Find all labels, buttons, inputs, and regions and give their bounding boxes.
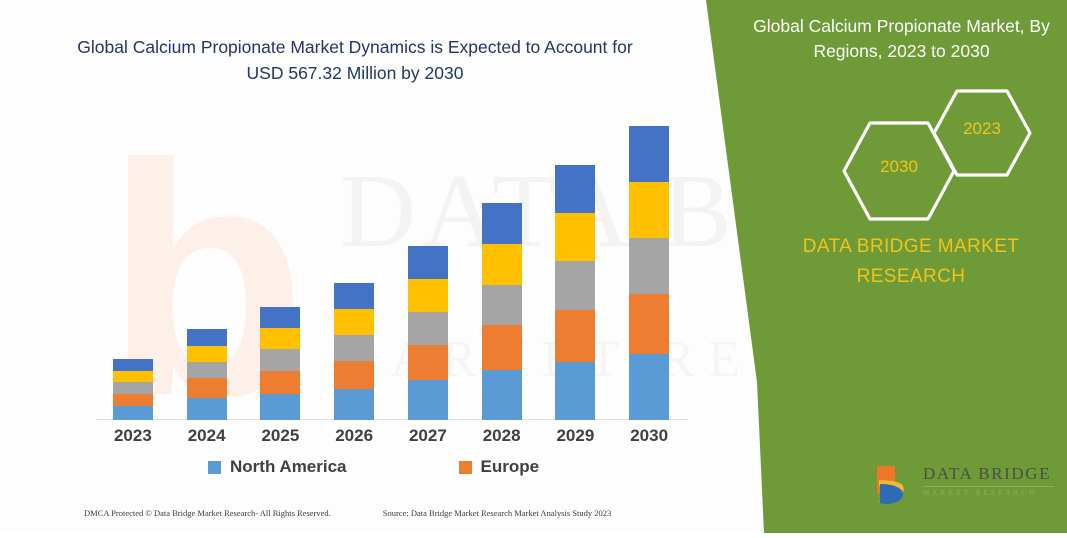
chart-legend: North AmericaEurope — [96, 455, 686, 479]
panel-title: Global Calcium Propionate Market, By Reg… — [746, 14, 1057, 64]
bar-segment-asia-pacific — [187, 362, 227, 378]
x-label-2029: 2029 — [539, 426, 613, 450]
legend-label: North America — [230, 457, 347, 477]
bar-segment-middle-east-and-africa — [260, 307, 300, 328]
legend-item-north-america[interactable]: North America — [208, 457, 347, 477]
data-bridge-logo: DATA BRIDGE MARKET RESEARCH — [871, 458, 1061, 510]
page-title: Global Calcium Propionate Market Dynamic… — [60, 34, 650, 86]
hexagon-group: 2030 2023 — [811, 88, 1051, 198]
bar-segment-europe — [629, 294, 669, 354]
bar-column-2028 — [465, 100, 539, 420]
hex-2023-label: 2023 — [931, 119, 1033, 139]
bar-segment-europe — [260, 371, 300, 394]
bar-segment-south-america — [260, 328, 300, 349]
bar-segment-asia-pacific — [334, 335, 374, 361]
bar-segment-middle-east-and-africa — [408, 246, 448, 279]
bar-segment-north-america — [260, 394, 300, 420]
bar-segment-europe — [555, 310, 595, 362]
bar-segment-europe — [482, 325, 522, 369]
bar-column-2029 — [539, 100, 613, 420]
bar-segment-north-america — [334, 389, 374, 420]
bar-column-2024 — [170, 100, 244, 420]
bar-segment-south-america — [334, 309, 374, 335]
bar-segment-asia-pacific — [555, 261, 595, 309]
bar-segment-europe — [187, 378, 227, 397]
stacked-bar — [629, 126, 669, 420]
footer-copyright: DMCA Protected © Data Bridge Market Rese… — [84, 508, 331, 524]
stacked-bar — [482, 203, 522, 420]
stacked-bar — [408, 246, 448, 420]
bar-segment-europe — [334, 361, 374, 389]
bar-segment-asia-pacific — [482, 285, 522, 326]
bar-segment-middle-east-and-africa — [629, 126, 669, 182]
bar-segment-europe — [408, 345, 448, 381]
legend-item-europe[interactable]: Europe — [459, 457, 540, 477]
bar-segment-south-america — [113, 371, 153, 383]
logo-mark-icon — [871, 460, 917, 506]
x-label-2028: 2028 — [465, 426, 539, 450]
bar-segment-north-america — [408, 380, 448, 420]
bar-segment-north-america — [113, 406, 153, 420]
bar-segment-south-america — [629, 182, 669, 238]
bar-segment-north-america — [555, 362, 595, 420]
x-label-2025: 2025 — [244, 426, 318, 450]
bar-segment-middle-east-and-africa — [334, 283, 374, 309]
bar-segment-middle-east-and-africa — [555, 165, 595, 213]
panel-brand-text: DATA BRIDGE MARKET RESEARCH — [761, 232, 1061, 292]
legend-swatch-icon — [459, 461, 472, 474]
bar-column-2027 — [391, 100, 465, 420]
bar-segment-asia-pacific — [629, 238, 669, 294]
stacked-bar — [555, 165, 595, 420]
bar-column-2023 — [96, 100, 170, 420]
legend-label: Europe — [481, 457, 540, 477]
x-label-2030: 2030 — [612, 426, 686, 450]
stacked-bar — [260, 307, 300, 420]
bar-segment-north-america — [187, 398, 227, 420]
bar-segment-middle-east-and-africa — [482, 203, 522, 244]
bar-segment-asia-pacific — [260, 349, 300, 370]
infographic-root: b DATA BRIDGE MARKET RESEARCH Global Cal… — [0, 0, 1067, 533]
bar-segment-north-america — [482, 370, 522, 420]
bar-column-2030 — [612, 100, 686, 420]
bar-segment-middle-east-and-africa — [113, 359, 153, 371]
bar-segment-north-america — [629, 354, 669, 420]
x-label-2023: 2023 — [96, 426, 170, 450]
bar-segment-south-america — [482, 244, 522, 285]
logo-name: DATA BRIDGE — [923, 464, 1054, 484]
bar-segment-south-america — [187, 346, 227, 362]
bar-column-2025 — [244, 100, 318, 420]
stacked-bar — [334, 283, 374, 420]
bar-group — [96, 100, 686, 420]
bar-segment-south-america — [408, 279, 448, 312]
logo-divider — [923, 486, 1054, 487]
stacked-bar — [113, 359, 153, 420]
bar-segment-middle-east-and-africa — [187, 329, 227, 345]
green-panel-content: Global Calcium Propionate Market, By Reg… — [756, 0, 1067, 533]
x-label-2026: 2026 — [317, 426, 391, 450]
bar-segment-south-america — [555, 213, 595, 261]
logo-tagline: MARKET RESEARCH — [923, 489, 1054, 497]
bar-column-2026 — [317, 100, 391, 420]
hex-2023: 2023 — [931, 88, 1033, 178]
x-axis-labels: 20232024202520262027202820292030 — [96, 426, 686, 450]
footer-source: Source: Data Bridge Market Research Mark… — [383, 508, 612, 524]
x-label-2027: 2027 — [391, 426, 465, 450]
bar-segment-asia-pacific — [113, 382, 153, 394]
logo-text: DATA BRIDGE MARKET RESEARCH — [923, 464, 1054, 497]
bar-chart-plot — [96, 100, 686, 420]
footer: DMCA Protected © Data Bridge Market Rese… — [84, 508, 684, 524]
stacked-bar — [187, 329, 227, 420]
bar-segment-asia-pacific — [408, 312, 448, 345]
bar-segment-europe — [113, 394, 153, 407]
legend-swatch-icon — [208, 461, 221, 474]
x-label-2024: 2024 — [170, 426, 244, 450]
